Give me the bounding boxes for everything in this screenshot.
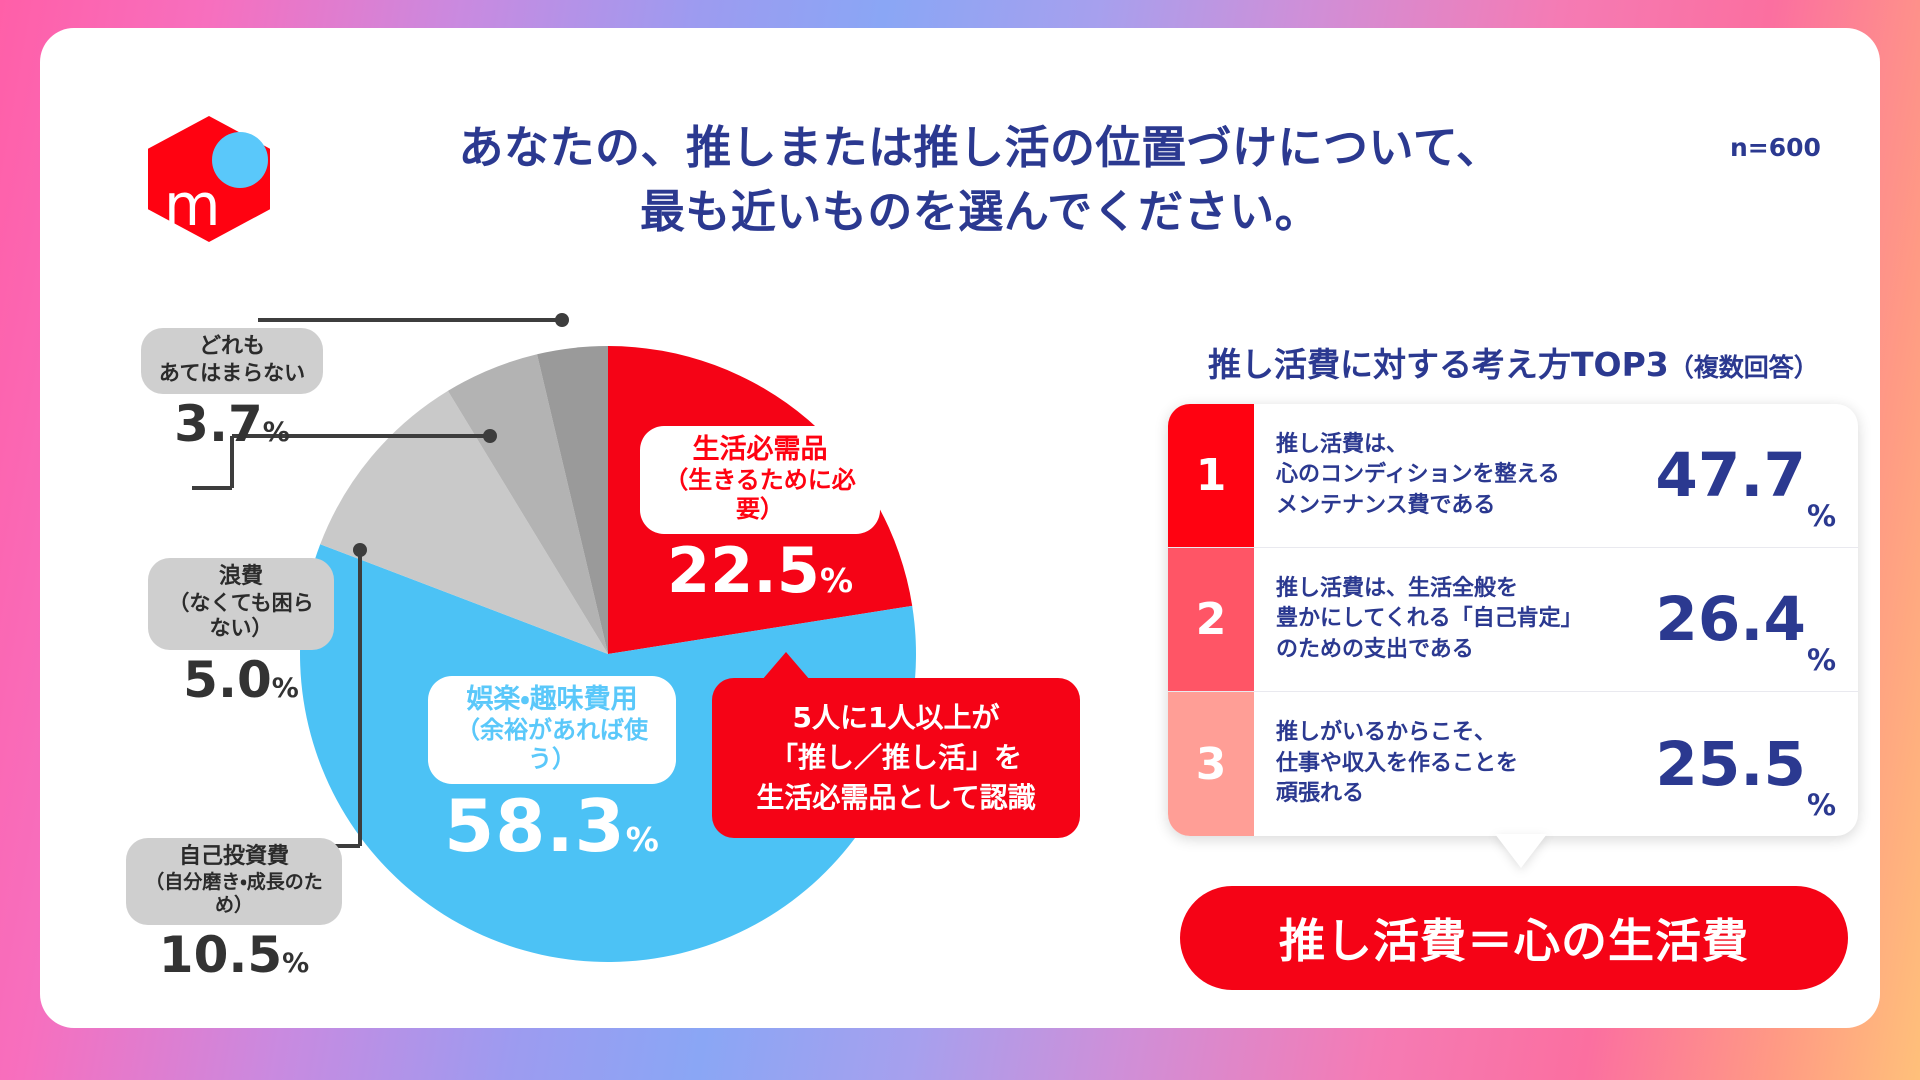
pie-label-necessity: 生活必需品 （生きるために必要） 22.5%	[640, 426, 880, 602]
sample-size-label: n=600	[1730, 133, 1821, 162]
pie-label-none: どれも あてはまらない 3.7%	[136, 328, 328, 451]
rank-value-3: 25.5%	[1643, 692, 1858, 836]
pie-value-selfinvest: 10.5%	[126, 929, 342, 982]
pie-label-leisure-pill: 娯楽・趣味費用 （余裕があれば使う）	[428, 676, 676, 784]
ranking-row-1: 1 推し活費は、 心のコンディションを整える メンテナンス費である 47.7%	[1168, 404, 1858, 548]
rank-text-2: 推し活費は、生活全般を 豊かにしてくれる「自己肯定」 のための支出である	[1254, 548, 1643, 691]
page-title: あなたの、推しまたは推し活の位置づけについて、 最も近いものを選んでください。	[340, 116, 1620, 244]
callout-line2: 「推し／推し活」を	[770, 738, 1022, 778]
highlight-callout: 5人に1人以上が 「推し／推し活」を 生活必需品として認識	[712, 678, 1080, 838]
rank-text-3-line3: 頑張れる	[1276, 779, 1518, 809]
callout-line3: 生活必需品として認識	[756, 778, 1035, 818]
mercari-logo: m	[148, 116, 270, 242]
rank-text-1-line3: メンテナンス費である	[1276, 491, 1560, 521]
rank-text-3: 推しがいるからこそ、 仕事や収入を作ることを 頑張れる	[1254, 692, 1643, 836]
callout-tail-icon	[762, 652, 810, 680]
ranking-heading-sub: （複数回答）	[1669, 353, 1819, 382]
ranking-heading: 推し活費に対する考え方TOP3（複数回答）	[1208, 338, 1819, 386]
rank-text-1: 推し活費は、 心のコンディションを整える メンテナンス費である	[1254, 404, 1643, 547]
rank-text-1-line2: 心のコンディションを整える	[1276, 460, 1560, 490]
rank-text-3-line1: 推しがいるからこそ、	[1276, 718, 1518, 748]
pie-value-leisure: 58.3%	[428, 790, 676, 862]
rank-badge-2: 2	[1168, 548, 1254, 691]
rank-text-2-line2: 豊かにしてくれる「自己肯定」	[1276, 604, 1583, 634]
rank-text-2-line3: のための支出である	[1276, 635, 1583, 665]
banner-tail-icon	[1495, 834, 1547, 868]
pie-label-none-pill: どれも あてはまらない	[141, 328, 323, 394]
rank-text-3-line2: 仕事や収入を作ることを	[1276, 749, 1518, 779]
main-card: m あなたの、推しまたは推し活の位置づけについて、 最も近いものを選んでください…	[40, 28, 1880, 1028]
rank-text-1-line1: 推し活費は、	[1276, 430, 1560, 460]
pie-value-necessity: 22.5%	[640, 540, 880, 602]
callout-line1: 5人に1人以上が	[793, 698, 1000, 738]
ranking-row-3: 3 推しがいるからこそ、 仕事や収入を作ることを 頑張れる 25.5%	[1168, 692, 1858, 836]
pie-value-waste: 5.0%	[148, 654, 334, 707]
page-title-line1: あなたの、推しまたは推し活の位置づけについて、	[340, 116, 1620, 180]
pie-value-none: 3.7%	[136, 398, 328, 451]
page-title-line2: 最も近いものを選んでください。	[340, 180, 1620, 244]
ranking-card: 1 推し活費は、 心のコンディションを整える メンテナンス費である 47.7% …	[1168, 404, 1858, 836]
pie-label-waste-pill: 浪費 （なくても困らない）	[148, 558, 334, 650]
rank-badge-1: 1	[1168, 404, 1254, 547]
pie-label-selfinvest-pill: 自己投資費 （自分磨き・成長のため）	[126, 838, 342, 925]
rank-value-1: 47.7%	[1643, 404, 1858, 547]
pie-label-selfinvest: 自己投資費 （自分磨き・成長のため） 10.5%	[126, 838, 342, 982]
logo-m-letter: m	[164, 176, 221, 234]
ranking-row-2: 2 推し活費は、生活全般を 豊かにしてくれる「自己肯定」 のための支出である 2…	[1168, 548, 1858, 692]
rank-text-2-line1: 推し活費は、生活全般を	[1276, 574, 1583, 604]
summary-banner: 推し活費＝心の生活費	[1180, 886, 1848, 990]
rank-value-2: 26.4%	[1643, 548, 1858, 691]
pie-label-waste: 浪費 （なくても困らない） 5.0%	[148, 558, 334, 707]
pie-label-leisure: 娯楽・趣味費用 （余裕があれば使う） 58.3%	[428, 676, 676, 862]
pie-label-necessity-pill: 生活必需品 （生きるために必要）	[640, 426, 880, 534]
ranking-heading-main: 推し活費に対する考え方TOP3	[1208, 345, 1669, 384]
rank-badge-3: 3	[1168, 692, 1254, 836]
